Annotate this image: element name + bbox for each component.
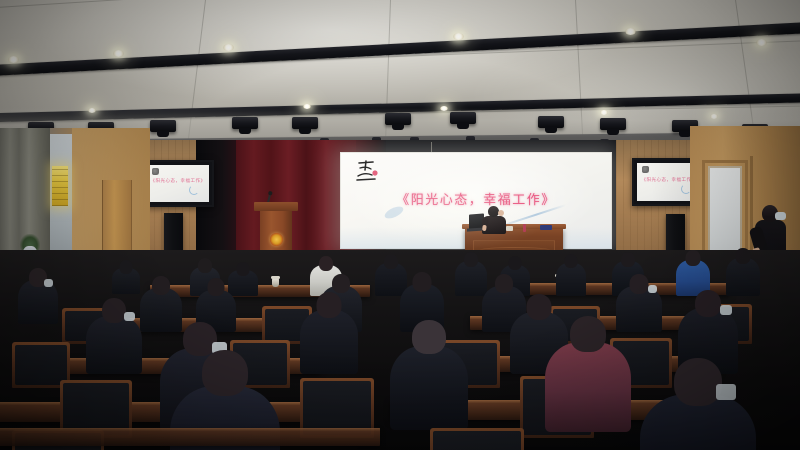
audience-member [86, 298, 142, 374]
stage-spotlight [450, 112, 476, 124]
person-head [198, 258, 212, 273]
person-head [412, 320, 446, 354]
audience-member [390, 320, 468, 430]
audience-member-maroon-sweater [545, 316, 631, 432]
person-head [120, 260, 133, 274]
presenter-head [488, 206, 499, 217]
podium-top [254, 202, 298, 211]
person-head [674, 358, 722, 406]
person-head [384, 254, 398, 269]
person-head [621, 252, 635, 267]
desk-papers [506, 226, 513, 231]
chair-seat [303, 381, 371, 435]
person-head [464, 252, 478, 267]
face-mask [775, 212, 786, 220]
desk-row-foreground [0, 428, 380, 446]
tea-cup [272, 278, 279, 287]
presenter-face [498, 210, 504, 216]
ceiling-downlight [625, 28, 636, 35]
conference-hall-photo: 《阳光心态，幸福工作》 《阳光心态，幸福工作》 [0, 0, 800, 450]
stage-spotlight [600, 118, 626, 130]
person-head [202, 350, 248, 396]
person-head [570, 316, 606, 352]
person-body [300, 310, 358, 374]
face-mask [720, 305, 732, 315]
person-body [86, 316, 142, 374]
wall-sconce-lamp [52, 166, 68, 206]
person-body [545, 342, 631, 432]
person-head [317, 292, 342, 318]
person-head [319, 256, 333, 271]
side-display-logo-icon [642, 166, 649, 173]
desk-marker [523, 224, 526, 232]
person-head [509, 256, 522, 270]
stage-spotlight [292, 117, 318, 129]
side-display-left: 《阳光心态，幸福工作》 [142, 160, 214, 207]
audience-member [726, 248, 760, 296]
standing-person-head [762, 205, 778, 222]
face-mask [648, 285, 657, 293]
audience-member-foreground-right [640, 358, 756, 450]
stage-spotlight [538, 116, 564, 128]
chair-seat [15, 345, 67, 385]
face-mask [44, 279, 53, 287]
audience-member [300, 292, 358, 374]
side-display-logo-icon [152, 168, 159, 175]
ceiling-downlight [756, 39, 767, 46]
face-mask [124, 312, 135, 321]
stage-spotlight [385, 113, 411, 125]
person-head [495, 274, 513, 293]
person-head [332, 274, 350, 293]
desk-folder [540, 225, 552, 230]
side-display-decoration-arc [189, 185, 199, 195]
person-head [413, 272, 432, 292]
ceiling-downlight [113, 50, 124, 57]
person-head [565, 254, 578, 268]
presenter [481, 206, 507, 232]
side-display-left-title: 《阳光心态，幸福工作》 [147, 178, 209, 184]
audience-seating-area [0, 250, 800, 450]
person-head [630, 274, 649, 294]
audience-member [556, 254, 586, 296]
person-head [686, 250, 701, 266]
calligraphy-brand-mark-icon [353, 159, 381, 185]
person-head [208, 278, 225, 296]
side-display-left-panel: 《阳光心态，幸福工作》 [147, 165, 209, 202]
person-head [736, 248, 751, 264]
person-body [390, 346, 468, 430]
person-head [695, 290, 721, 317]
ceiling-downlight [8, 56, 19, 63]
person-head [102, 298, 126, 323]
stage-spotlight [232, 117, 258, 129]
audience-member [112, 260, 140, 294]
podium-emblem [270, 233, 283, 246]
ceiling-downlight [453, 33, 464, 40]
screen-title-text: 《阳光心态，幸福工作》 [340, 189, 612, 208]
sconce-slats [52, 166, 68, 206]
chair [430, 428, 524, 450]
person-head [237, 262, 250, 276]
chair-seat [433, 431, 521, 450]
stage-spotlight [150, 120, 176, 132]
person-head [152, 276, 170, 295]
face-mask [716, 384, 736, 400]
audience-member [18, 268, 58, 324]
ceiling-downlight [223, 44, 234, 51]
